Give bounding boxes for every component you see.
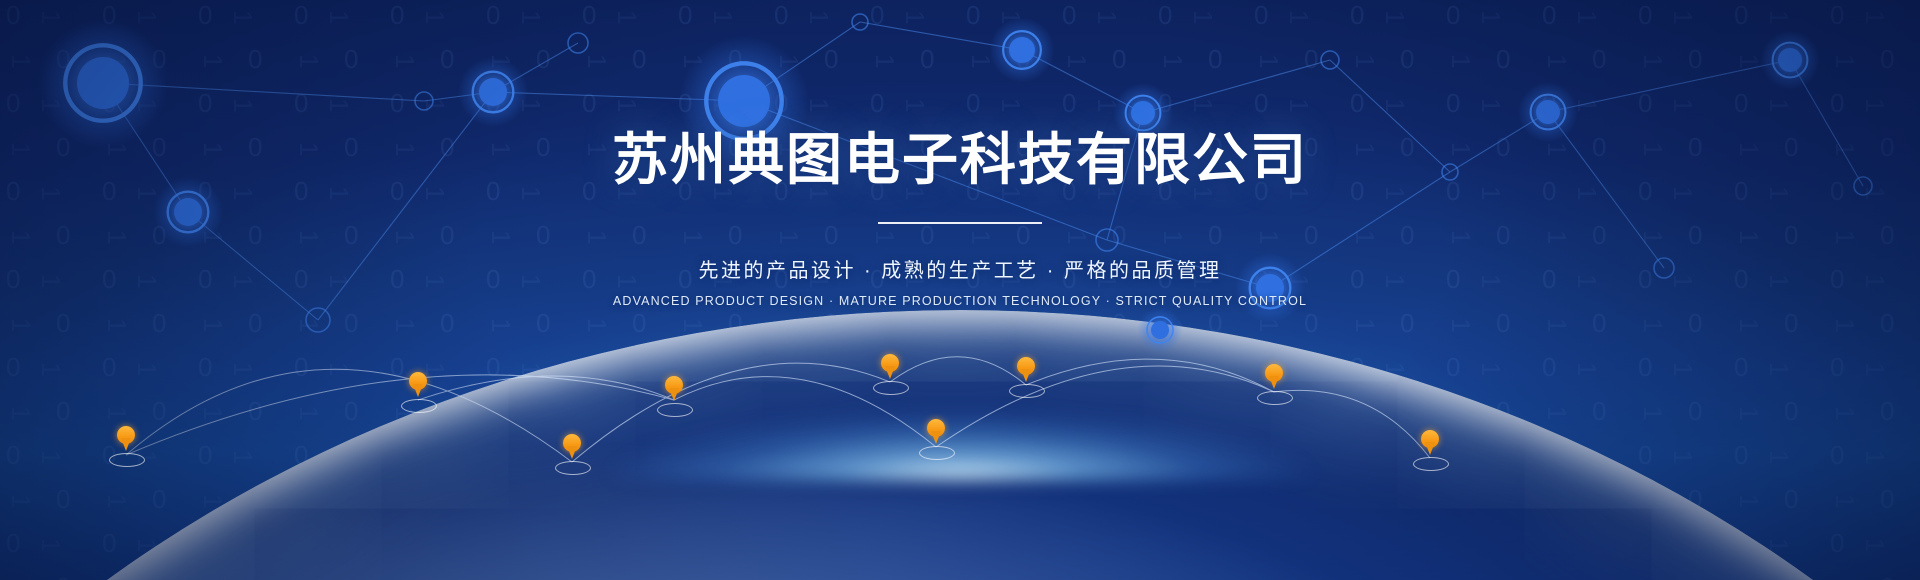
map-pin-1-icon bbox=[117, 426, 135, 444]
map-pin-3-icon bbox=[563, 434, 581, 452]
title-divider bbox=[878, 222, 1042, 224]
tagline-chinese: 先进的产品设计 · 成熟的生产工艺 · 严格的品质管理 bbox=[0, 254, 1920, 283]
tagline-english: ADVANCED PRODUCT DESIGN · MATURE PRODUCT… bbox=[0, 294, 1920, 308]
pin-marker bbox=[1017, 357, 1035, 375]
pin-marker bbox=[1265, 364, 1283, 382]
page-title: 苏州典图电子科技有限公司 bbox=[0, 128, 1920, 192]
pin-marker bbox=[409, 372, 427, 390]
pin-marker bbox=[563, 434, 581, 452]
hero-banner: 0 1 1 0 bbox=[0, 0, 1920, 580]
pin-base-ring bbox=[1413, 457, 1449, 471]
map-pin-4-icon bbox=[665, 376, 683, 394]
pin-base-ring bbox=[555, 461, 591, 475]
map-pin-5-icon bbox=[881, 354, 899, 372]
pin-base-ring bbox=[401, 399, 437, 413]
pin-base-ring bbox=[873, 381, 909, 395]
pin-marker bbox=[117, 426, 135, 444]
map-pin-7-icon bbox=[1017, 357, 1035, 375]
map-pin-2-icon bbox=[409, 372, 427, 390]
map-pin-8-icon bbox=[1265, 364, 1283, 382]
pin-marker bbox=[881, 354, 899, 372]
banner-content: 苏州典图电子科技有限公司 先进的产品设计 · 成熟的生产工艺 · 严格的品质管理… bbox=[0, 0, 1920, 308]
pin-base-ring bbox=[657, 403, 693, 417]
pin-base-ring bbox=[1009, 384, 1045, 398]
pin-base-ring bbox=[919, 446, 955, 460]
pin-marker bbox=[665, 376, 683, 394]
pin-base-ring bbox=[1257, 391, 1293, 405]
pin-marker bbox=[927, 419, 945, 437]
pin-base-ring bbox=[109, 453, 145, 467]
map-pin-6-icon bbox=[927, 419, 945, 437]
pin-marker bbox=[1421, 430, 1439, 448]
map-pin-9-icon bbox=[1421, 430, 1439, 448]
